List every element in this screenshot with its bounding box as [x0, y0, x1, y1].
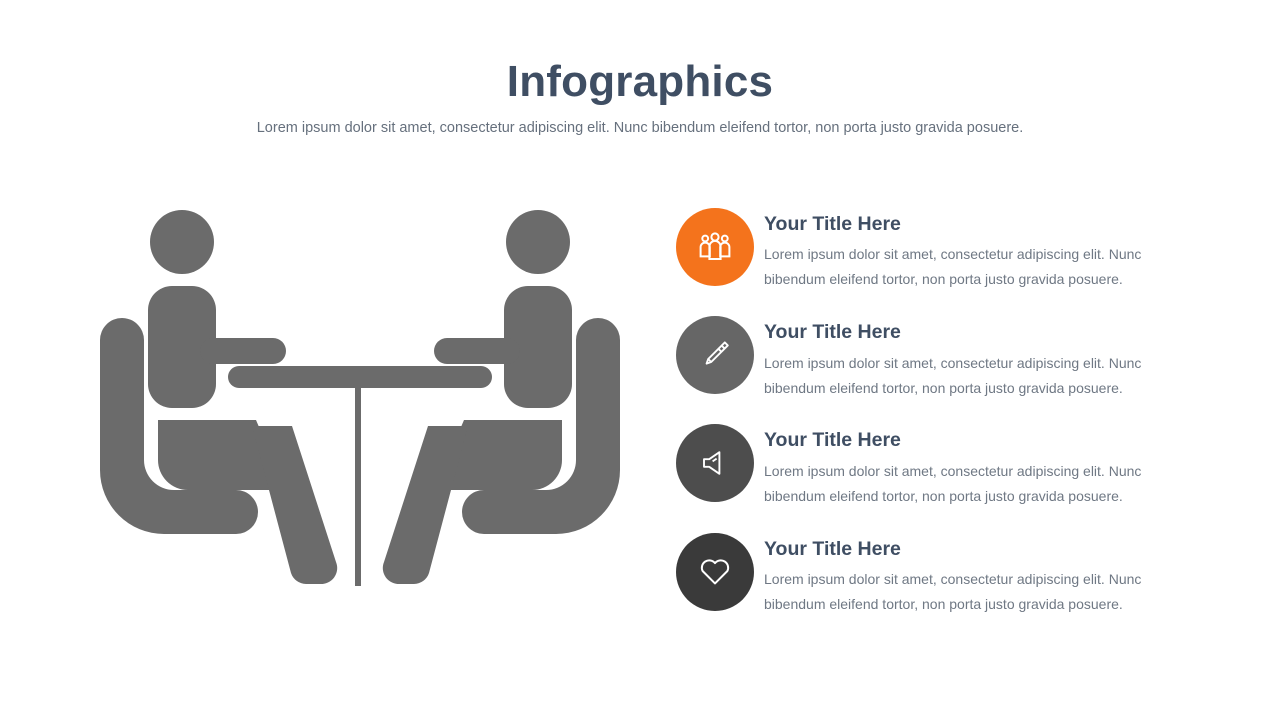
item-description: Lorem ipsum dolor sit amet, consectetur …	[764, 351, 1172, 401]
item-description: Lorem ipsum dolor sit amet, consectetur …	[764, 242, 1172, 292]
item-title: Your Title Here	[764, 538, 1184, 560]
item-title: Your Title Here	[764, 213, 1184, 235]
speaker-icon	[676, 424, 754, 502]
slide-header: Infographics Lorem ipsum dolor sit amet,…	[0, 58, 1280, 138]
heart-icon	[676, 533, 754, 611]
item-title: Your Title Here	[764, 429, 1184, 451]
item-text-block: Your Title Here Lorem ipsum dolor sit am…	[764, 424, 1184, 508]
list-item[interactable]: Your Title Here Lorem ipsum dolor sit am…	[676, 208, 1196, 292]
item-title: Your Title Here	[764, 321, 1184, 343]
list-item[interactable]: Your Title Here Lorem ipsum dolor sit am…	[676, 424, 1196, 508]
left-person-group	[100, 210, 337, 584]
page-title: Infographics	[0, 58, 1280, 106]
infographic-slide: Infographics Lorem ipsum dolor sit amet,…	[0, 0, 1280, 720]
list-item[interactable]: Your Title Here Lorem ipsum dolor sit am…	[676, 533, 1196, 617]
item-text-block: Your Title Here Lorem ipsum dolor sit am…	[764, 533, 1184, 617]
item-description: Lorem ipsum dolor sit amet, consectetur …	[764, 567, 1172, 617]
page-subtitle: Lorem ipsum dolor sit amet, consectetur …	[0, 120, 1280, 137]
list-item[interactable]: Your Title Here Lorem ipsum dolor sit am…	[676, 316, 1196, 400]
two-people-at-table-illustration	[70, 190, 650, 610]
item-description: Lorem ipsum dolor sit amet, consectetur …	[764, 459, 1172, 509]
right-person-group	[383, 210, 620, 584]
group-people-icon	[676, 208, 754, 286]
pencil-icon	[676, 316, 754, 394]
item-text-block: Your Title Here Lorem ipsum dolor sit am…	[764, 208, 1184, 292]
feature-item-list: Your Title Here Lorem ipsum dolor sit am…	[676, 208, 1196, 617]
item-text-block: Your Title Here Lorem ipsum dolor sit am…	[764, 316, 1184, 400]
